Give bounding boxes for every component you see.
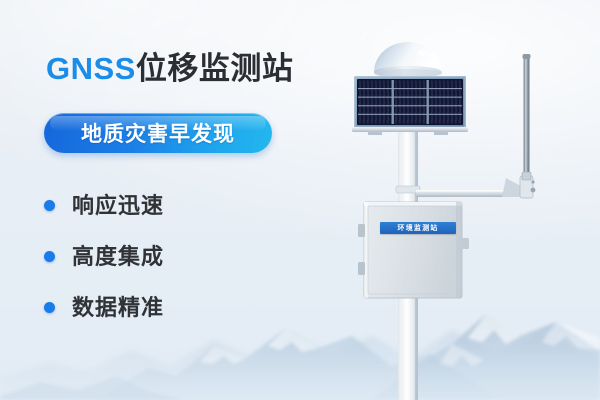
headline-en: GNSS: [46, 51, 136, 86]
bullet-dot-icon: [44, 251, 55, 262]
equipment-enclosure: [358, 202, 469, 298]
bullet-dot-icon: [44, 302, 55, 313]
solar-panel: [352, 76, 468, 135]
list-item: 响应迅速: [44, 180, 294, 231]
tagline-badge: 地质灾害早发现: [44, 113, 272, 153]
promo-banner: GNSS位移监测站 地质灾害早发现 响应迅速 高度集成 数据精准: [0, 0, 600, 400]
enclosure-nameplate: 环境监测站: [380, 222, 456, 234]
enclosure-nameplate-text: 环境监测站: [398, 225, 439, 232]
list-item: 高度集成: [44, 231, 294, 282]
whip-antenna: [522, 54, 531, 180]
feature-label: 响应迅速: [72, 195, 164, 217]
page-title: GNSS位移监测站: [46, 53, 293, 84]
copy-block: GNSS位移监测站 地质灾害早发现 响应迅速 高度集成 数据精准: [0, 0, 330, 400]
headline-cn: 位移监测站: [136, 51, 294, 86]
feature-label: 数据精准: [72, 297, 164, 319]
antenna-bracket: [416, 176, 535, 198]
monitoring-station-illustration: [330, 0, 600, 400]
list-item: 数据精准: [44, 282, 294, 333]
feature-label: 高度集成: [72, 246, 164, 268]
feature-list: 响应迅速 高度集成 数据精准: [44, 180, 294, 333]
bullet-dot-icon: [44, 200, 55, 211]
tagline-badge-label: 地质灾害早发现: [81, 118, 235, 148]
